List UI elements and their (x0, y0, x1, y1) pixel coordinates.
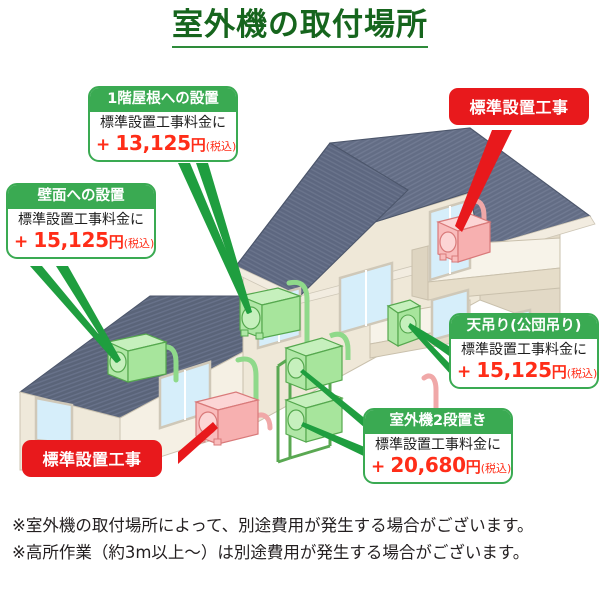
callout-ceiling-hang[interactable]: 天吊り(公団吊り) 標準設置工事料金に + 15,125円(税込) (449, 313, 599, 389)
price-amount: 15,125 (33, 228, 108, 252)
price-yen-unit: 円 (109, 233, 124, 251)
price-tax-note: (税込) (567, 367, 598, 380)
callout-wall-mount-line1: 標準設置工事料金に (14, 212, 148, 229)
price-yen-unit: 円 (191, 136, 206, 154)
price-yen-unit: 円 (466, 458, 481, 476)
price-amount: 20,680 (390, 453, 465, 477)
price-tax-note: (税込) (124, 237, 155, 250)
callout-two-tier[interactable]: 室外機2段置き 標準設置工事料金に + 20,680円(税込) (363, 408, 513, 484)
footer-note-1: ※室外機の取付場所によって、別途費用が発生する場合がございます。 (12, 512, 592, 539)
badge-standard-install-top[interactable]: 標準設置工事 (449, 88, 589, 125)
callout-two-tier-header: 室外機2段置き (365, 410, 511, 434)
callout-wall-mount[interactable]: 壁面への設置 標準設置工事料金に + 15,125円(税込) (6, 183, 156, 259)
callout-roof-1f-price: + 13,125円(税込) (96, 132, 230, 156)
callout-wall-mount-body: 標準設置工事料金に + 15,125円(税込) (8, 209, 154, 257)
callout-ceiling-hang-line1: 標準設置工事料金に (457, 342, 591, 359)
price-plus-sign: + (14, 232, 28, 252)
callout-roof-1f[interactable]: 1階屋根への設置 標準設置工事料金に + 13,125円(税込) (88, 86, 238, 162)
price-plus-sign: + (371, 457, 385, 477)
callout-roof-1f-header: 1階屋根への設置 (90, 88, 236, 112)
price-amount: 15,125 (476, 358, 551, 382)
callout-two-tier-price: + 20,680円(税込) (371, 454, 505, 478)
callout-roof-1f-line1: 標準設置工事料金に (96, 115, 230, 132)
price-tax-note: (税込) (481, 462, 512, 475)
footer-notes: ※室外機の取付場所によって、別途費用が発生する場合がございます。 ※高所作業（約… (12, 512, 592, 566)
callout-roof-1f-body: 標準設置工事料金に + 13,125円(税込) (90, 112, 236, 160)
callout-ceiling-hang-body: 標準設置工事料金に + 15,125円(税込) (451, 339, 597, 387)
infographic-page: 室外機の取付場所 (0, 0, 600, 600)
callout-wall-mount-header: 壁面への設置 (8, 185, 154, 209)
price-plus-sign: + (96, 135, 110, 155)
callout-two-tier-body: 標準設置工事料金に + 20,680円(税込) (365, 434, 511, 482)
badge-standard-install-bottom[interactable]: 標準設置工事 (22, 440, 162, 477)
price-yen-unit: 円 (552, 363, 567, 381)
callout-ceiling-hang-price: + 15,125円(税込) (457, 359, 591, 383)
callout-two-tier-line1: 標準設置工事料金に (371, 437, 505, 454)
unit-ceiling-hung (388, 300, 420, 346)
price-plus-sign: + (457, 362, 471, 382)
price-tax-note: (税込) (206, 140, 237, 153)
price-amount: 13,125 (115, 131, 190, 155)
callout-wall-mount-price: + 15,125円(税込) (14, 229, 148, 253)
footer-note-2: ※高所作業（約3m以上～）は別途費用が発生する場合がございます。 (12, 539, 592, 566)
callout-ceiling-hang-header: 天吊り(公団吊り) (451, 315, 597, 339)
leader-roof-1f-b (196, 163, 252, 314)
